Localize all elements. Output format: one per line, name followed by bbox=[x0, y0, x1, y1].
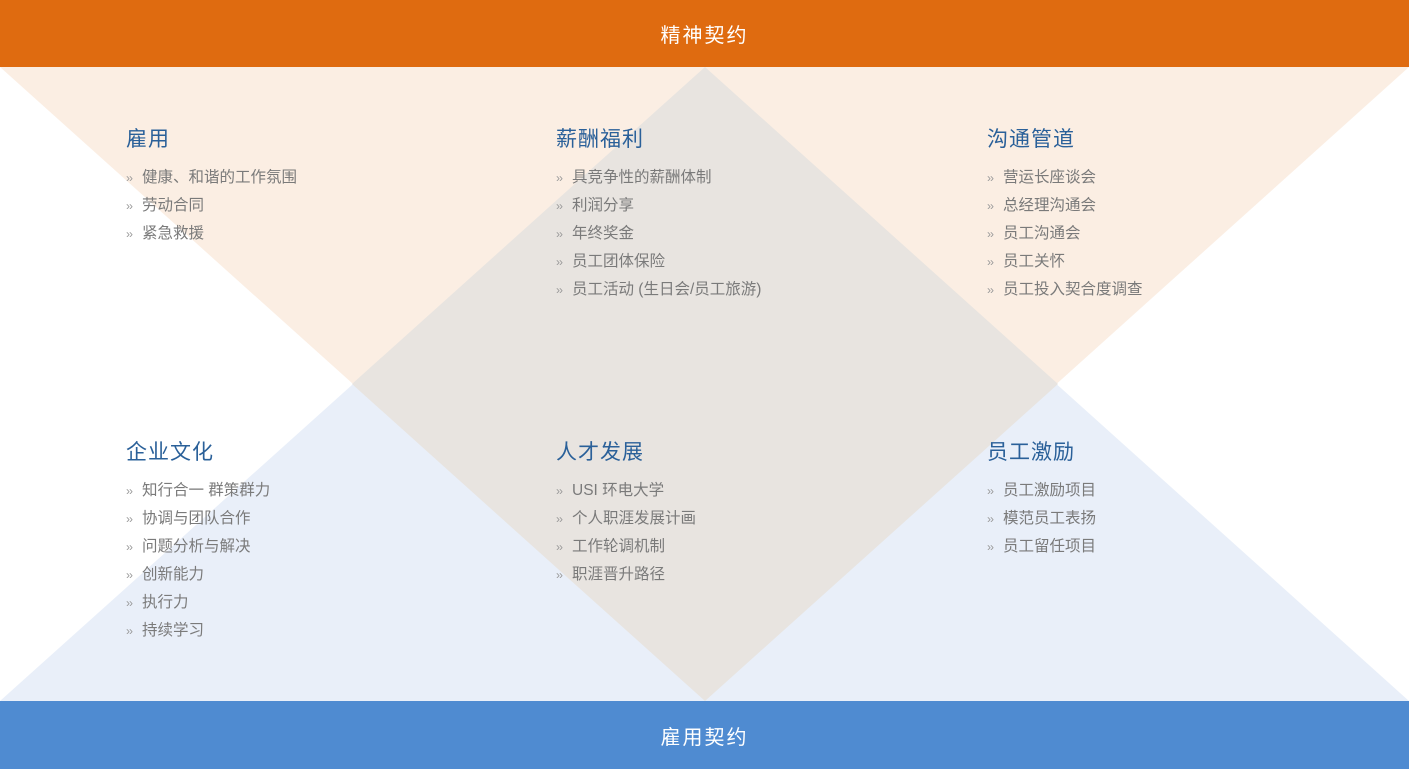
chevron-right-icon: ›› bbox=[987, 477, 993, 505]
section-title: 人才发展 bbox=[556, 441, 696, 464]
list-item-label: 问题分析与解决 bbox=[142, 533, 251, 561]
section-employment: 雇用 ››健康、和谐的工作氛围 ››劳动合同 ››紧急救援 bbox=[126, 128, 297, 248]
list-item-label: 知行合一 群策群力 bbox=[142, 477, 270, 505]
list-item-label: 职涯晋升路径 bbox=[572, 561, 665, 589]
chevron-right-icon: ›› bbox=[556, 561, 562, 589]
list-item: ››执行力 bbox=[126, 589, 270, 617]
list-item-label: 员工激励项目 bbox=[1003, 477, 1096, 505]
section-communication-channels: 沟通管道 ››营运长座谈会 ››总经理沟通会 ››员工沟通会 ››员工关怀 ››… bbox=[987, 128, 1143, 304]
list-item: ››紧急救援 bbox=[126, 220, 297, 248]
list-item: ››年终奖金 bbox=[556, 220, 761, 248]
chevron-right-icon: ›› bbox=[126, 533, 132, 561]
chevron-right-icon: ›› bbox=[987, 248, 993, 276]
list-item: ››知行合一 群策群力 bbox=[126, 477, 270, 505]
list-item-label: 员工沟通会 bbox=[1003, 220, 1081, 248]
section-list: ››员工激励项目 ››模范员工表扬 ››员工留任项目 bbox=[987, 477, 1096, 561]
section-list: ››USI 环电大学 ››个人职涯发展计画 ››工作轮调机制 ››职涯晋升路径 bbox=[556, 477, 696, 589]
list-item: ››职涯晋升路径 bbox=[556, 561, 696, 589]
list-item-label: 持续学习 bbox=[142, 617, 204, 645]
list-item-label: 协调与团队合作 bbox=[142, 505, 251, 533]
list-item-label: 员工留任项目 bbox=[1003, 533, 1096, 561]
section-talent-development: 人才发展 ››USI 环电大学 ››个人职涯发展计画 ››工作轮调机制 ››职涯… bbox=[556, 441, 696, 589]
list-item: ››利润分享 bbox=[556, 192, 761, 220]
list-item-label: USI 环电大学 bbox=[572, 477, 664, 505]
section-employee-motivation: 员工激励 ››员工激励项目 ››模范员工表扬 ››员工留任项目 bbox=[987, 441, 1096, 561]
list-item: ››总经理沟通会 bbox=[987, 192, 1143, 220]
list-item-label: 员工关怀 bbox=[1003, 248, 1065, 276]
list-item: ››员工关怀 bbox=[987, 248, 1143, 276]
chevron-right-icon: ›› bbox=[987, 505, 993, 533]
chevron-right-icon: ›› bbox=[126, 561, 132, 589]
list-item: ››创新能力 bbox=[126, 561, 270, 589]
section-title: 员工激励 bbox=[987, 441, 1096, 464]
list-item-label: 工作轮调机制 bbox=[572, 533, 665, 561]
chevron-right-icon: ›› bbox=[987, 276, 993, 304]
list-item-label: 年终奖金 bbox=[572, 220, 634, 248]
top-banner-label: 精神契约 bbox=[661, 19, 749, 48]
list-item: ››员工留任项目 bbox=[987, 533, 1096, 561]
list-item-label: 健康、和谐的工作氛围 bbox=[142, 164, 297, 192]
list-item: ››持续学习 bbox=[126, 617, 270, 645]
list-item: ››协调与团队合作 bbox=[126, 505, 270, 533]
list-item-label: 员工团体保险 bbox=[572, 248, 665, 276]
section-list: ››健康、和谐的工作氛围 ››劳动合同 ››紧急救援 bbox=[126, 164, 297, 248]
list-item: ››健康、和谐的工作氛围 bbox=[126, 164, 297, 192]
chevron-right-icon: ›› bbox=[126, 589, 132, 617]
list-item: ››问题分析与解决 bbox=[126, 533, 270, 561]
bottom-banner-label: 雇用契约 bbox=[661, 721, 749, 750]
chevron-right-icon: ›› bbox=[126, 477, 132, 505]
list-item-label: 总经理沟通会 bbox=[1003, 192, 1096, 220]
list-item-label: 执行力 bbox=[142, 589, 189, 617]
section-corporate-culture: 企业文化 ››知行合一 群策群力 ››协调与团队合作 ››问题分析与解决 ››创… bbox=[126, 441, 270, 645]
chevron-right-icon: ›› bbox=[987, 533, 993, 561]
content-grid: 雇用 ››健康、和谐的工作氛围 ››劳动合同 ››紧急救援 薪酬福利 ››具竞争… bbox=[0, 67, 1409, 701]
list-item-label: 紧急救援 bbox=[142, 220, 204, 248]
chevron-right-icon: ›› bbox=[556, 164, 562, 192]
list-item-label: 利润分享 bbox=[572, 192, 634, 220]
list-item: ››员工投入契合度调查 bbox=[987, 276, 1143, 304]
list-item: ››工作轮调机制 bbox=[556, 533, 696, 561]
chevron-right-icon: ›› bbox=[556, 248, 562, 276]
section-title: 薪酬福利 bbox=[556, 128, 761, 151]
section-list: ››营运长座谈会 ››总经理沟通会 ››员工沟通会 ››员工关怀 ››员工投入契… bbox=[987, 164, 1143, 304]
list-item-label: 模范员工表扬 bbox=[1003, 505, 1096, 533]
section-title: 雇用 bbox=[126, 128, 297, 151]
chevron-right-icon: ›› bbox=[556, 276, 562, 304]
chevron-right-icon: ›› bbox=[556, 505, 562, 533]
list-item-label: 个人职涯发展计画 bbox=[572, 505, 696, 533]
chevron-right-icon: ›› bbox=[126, 192, 132, 220]
list-item: ››个人职涯发展计画 bbox=[556, 505, 696, 533]
list-item: ››员工沟通会 bbox=[987, 220, 1143, 248]
list-item-label: 创新能力 bbox=[142, 561, 204, 589]
list-item: ››具竞争性的薪酬体制 bbox=[556, 164, 761, 192]
chevron-right-icon: ›› bbox=[987, 192, 993, 220]
list-item-label: 具竞争性的薪酬体制 bbox=[572, 164, 712, 192]
list-item-label: 营运长座谈会 bbox=[1003, 164, 1096, 192]
chevron-right-icon: ›› bbox=[987, 220, 993, 248]
list-item-label: 员工活动 (生日会/员工旅游) bbox=[572, 276, 761, 304]
chevron-right-icon: ›› bbox=[556, 220, 562, 248]
section-list: ››具竞争性的薪酬体制 ››利润分享 ››年终奖金 ››员工团体保险 ››员工活… bbox=[556, 164, 761, 304]
chevron-right-icon: ›› bbox=[126, 164, 132, 192]
chevron-right-icon: ›› bbox=[556, 477, 562, 505]
bottom-banner: 雇用契约 bbox=[0, 701, 1409, 769]
list-item: ››营运长座谈会 bbox=[987, 164, 1143, 192]
chevron-right-icon: ›› bbox=[126, 220, 132, 248]
section-list: ››知行合一 群策群力 ››协调与团队合作 ››问题分析与解决 ››创新能力 ›… bbox=[126, 477, 270, 645]
slide-canvas: 精神契约 雇用契约 雇用 ››健康、和谐的工作氛围 ››劳动合同 ››紧急救援 … bbox=[0, 0, 1409, 769]
chevron-right-icon: ›› bbox=[556, 533, 562, 561]
section-title: 企业文化 bbox=[126, 441, 270, 464]
top-banner: 精神契约 bbox=[0, 0, 1409, 67]
list-item: ››员工激励项目 bbox=[987, 477, 1096, 505]
section-title: 沟通管道 bbox=[987, 128, 1143, 151]
section-compensation-benefits: 薪酬福利 ››具竞争性的薪酬体制 ››利润分享 ››年终奖金 ››员工团体保险 … bbox=[556, 128, 761, 304]
list-item: ››劳动合同 bbox=[126, 192, 297, 220]
list-item-label: 劳动合同 bbox=[142, 192, 204, 220]
chevron-right-icon: ›› bbox=[556, 192, 562, 220]
chevron-right-icon: ›› bbox=[126, 505, 132, 533]
chevron-right-icon: ›› bbox=[987, 164, 993, 192]
list-item: ››USI 环电大学 bbox=[556, 477, 696, 505]
list-item: ››员工团体保险 bbox=[556, 248, 761, 276]
list-item: ››员工活动 (生日会/员工旅游) bbox=[556, 276, 761, 304]
chevron-right-icon: ›› bbox=[126, 617, 132, 645]
list-item: ››模范员工表扬 bbox=[987, 505, 1096, 533]
list-item-label: 员工投入契合度调查 bbox=[1003, 276, 1143, 304]
